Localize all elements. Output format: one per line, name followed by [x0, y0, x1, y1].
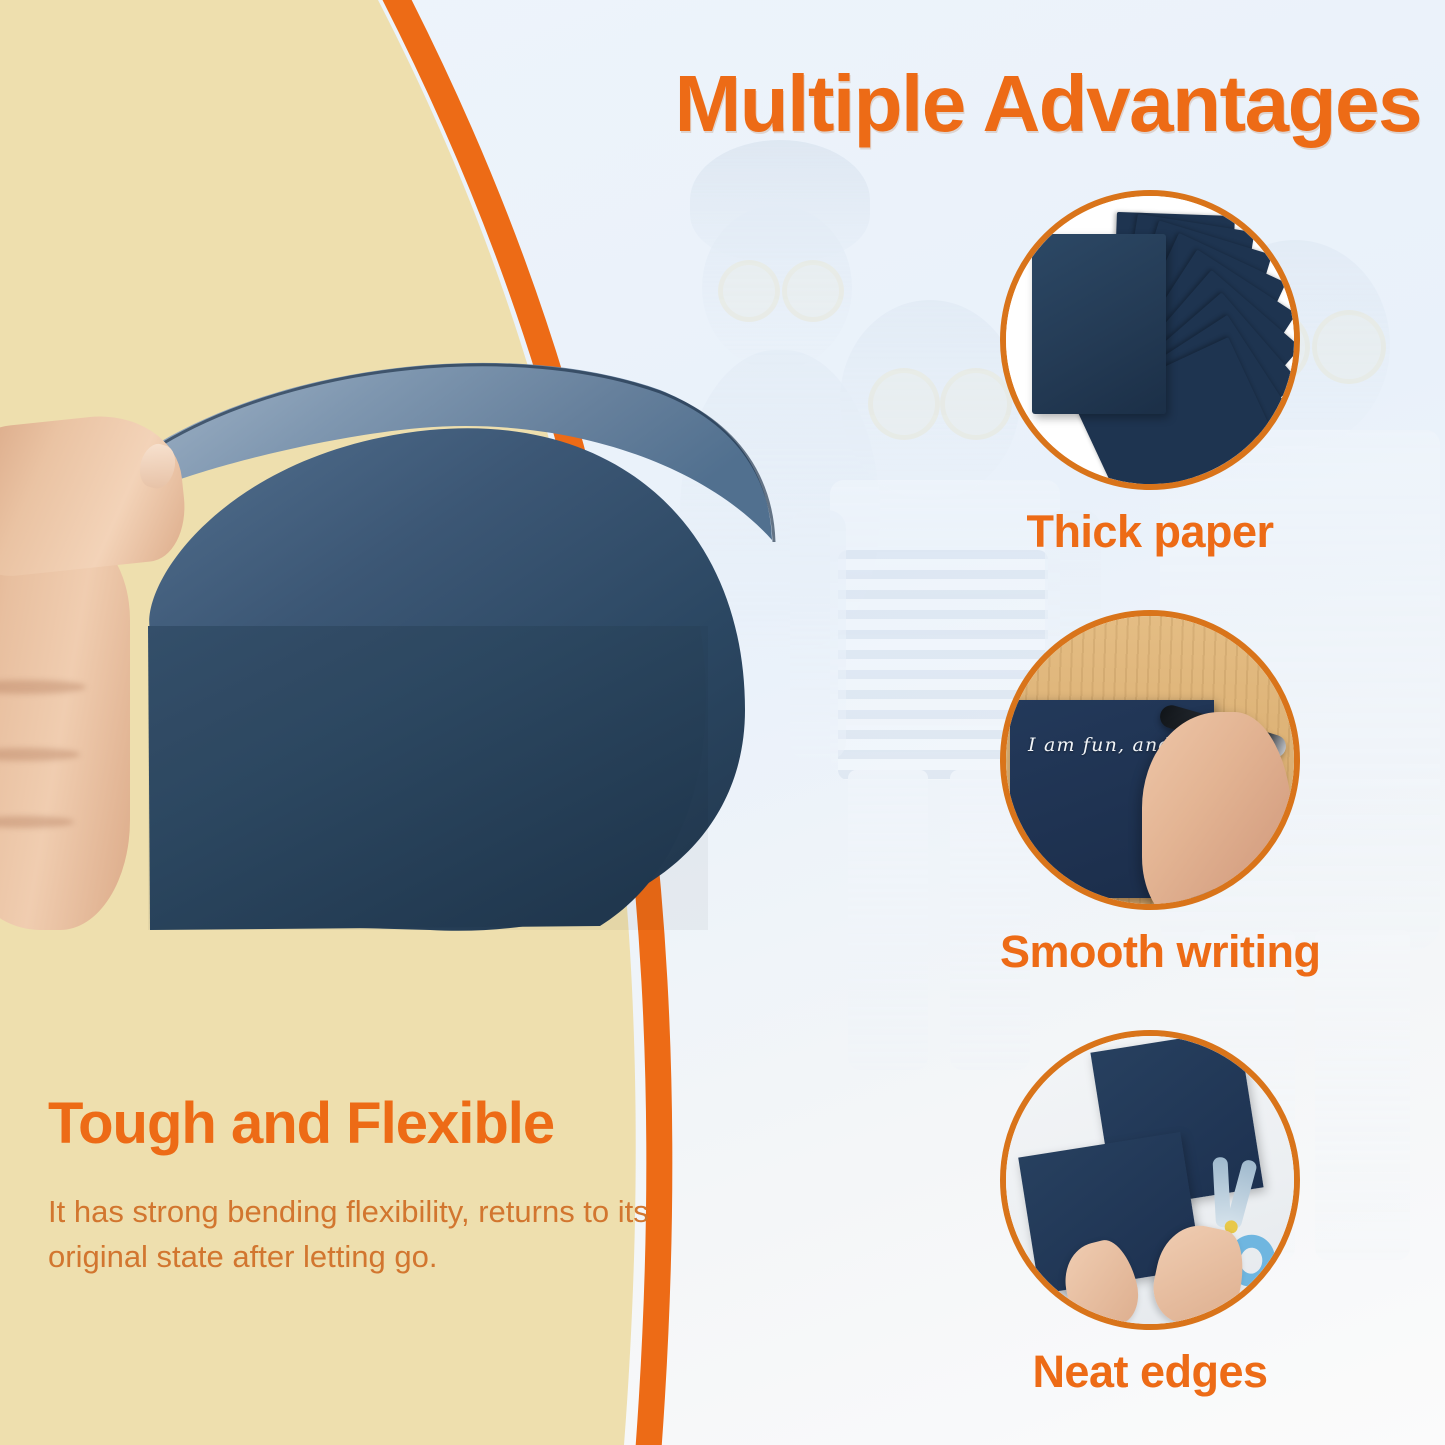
feature-label-smooth-writing: Smooth writing [1000, 926, 1300, 978]
thick-paper-circle [1000, 190, 1300, 490]
feature-neat-edges: Neat edges [1000, 1030, 1300, 1398]
feature-label-thick-paper: Thick paper [1000, 506, 1300, 558]
smooth-writing-circle: I am fun, and [1000, 610, 1300, 910]
left-panel-body: It has strong bending flexibility, retur… [48, 1190, 748, 1280]
feature-smooth-writing: I am fun, and Smooth writing [1000, 610, 1300, 978]
feature-label-neat-edges: Neat edges [1000, 1346, 1300, 1398]
handwriting-text: I am fun, and [1028, 734, 1172, 756]
writing-hand [1142, 712, 1292, 910]
infographic-canvas: Multiple Advantages Tough and Flexible I… [0, 0, 1445, 1445]
feature-thick-paper: Thick paper [1000, 190, 1300, 558]
hand-holding-paper [0, 380, 170, 940]
left-panel-title: Tough and Flexible [48, 1090, 554, 1157]
hero-bending-paper [0, 330, 780, 990]
page-title: Multiple Advantages [675, 58, 1421, 150]
neat-edges-circle [1000, 1030, 1300, 1330]
